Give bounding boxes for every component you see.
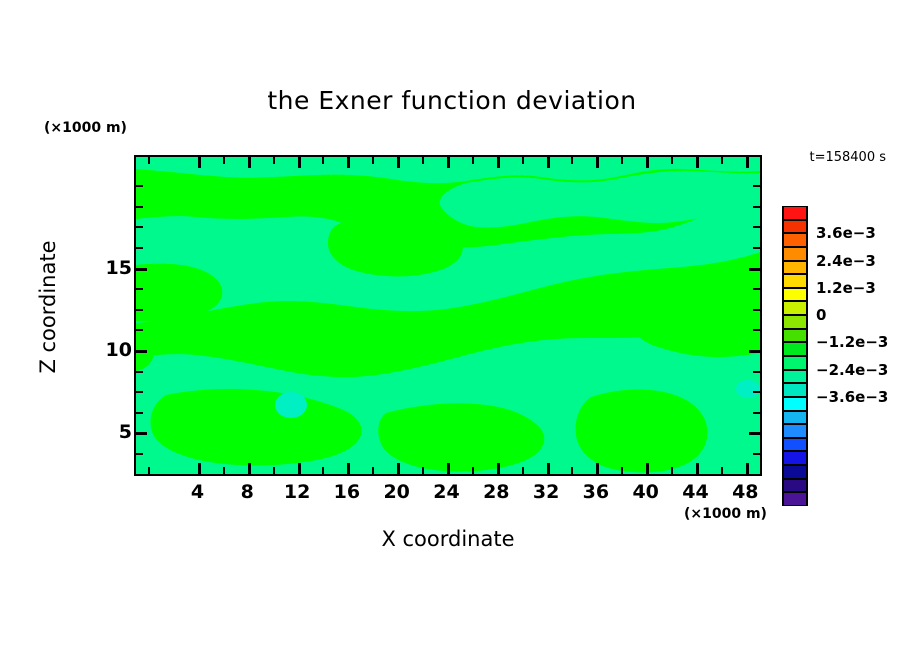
- x-tick-major: [497, 463, 500, 474]
- y-tick-minor: [136, 247, 143, 249]
- y-tick-minor: [136, 206, 143, 208]
- y-tick-right-minor: [753, 247, 760, 249]
- colorbar-segment: [782, 301, 808, 315]
- y-tick-minor: [136, 329, 143, 331]
- x-tick-label: 24: [433, 481, 459, 503]
- x-tick-minor: [273, 467, 275, 474]
- colorbar-segment: [782, 465, 808, 479]
- x-tick-major: [596, 463, 599, 474]
- x-tick-label: 28: [483, 481, 509, 503]
- x-tick-label: 48: [732, 481, 758, 503]
- x-tick-top-minor: [721, 157, 723, 164]
- y-axis-unit-label: (×1000 m): [44, 120, 127, 136]
- y-tick-minor: [136, 185, 143, 187]
- colorbar-segment: [782, 329, 808, 343]
- x-tick-major: [347, 463, 350, 474]
- x-tick-top-minor: [148, 157, 150, 164]
- y-tick-right-minor: [753, 412, 760, 414]
- colorbar-segment: [782, 438, 808, 452]
- x-tick-minor: [721, 467, 723, 474]
- x-tick-top-major: [746, 157, 749, 168]
- x-tick-label: 4: [191, 481, 204, 503]
- x-tick-label: 32: [533, 481, 559, 503]
- colorbar: [782, 206, 808, 506]
- x-tick-minor: [422, 467, 424, 474]
- y-tick-right-minor: [753, 329, 760, 331]
- x-tick-top-minor: [571, 157, 573, 164]
- x-tick-label: 40: [632, 481, 658, 503]
- y-tick-minor: [136, 391, 143, 393]
- colorbar-segment: [782, 411, 808, 425]
- colorbar-segment: [782, 397, 808, 411]
- y-tick-label: 10: [106, 339, 132, 361]
- y-tick-right-minor: [753, 185, 760, 187]
- x-tick-top-major: [447, 157, 450, 168]
- contour-field: [136, 157, 760, 474]
- contour-pocket-teal-left: [275, 392, 307, 418]
- timestamp-annotation: t=158400 s: [809, 150, 886, 165]
- y-tick-minor: [136, 226, 143, 228]
- x-tick-top-major: [397, 157, 400, 168]
- x-tick-top-minor: [273, 157, 275, 164]
- y-axis-title: Z coordinate: [36, 207, 60, 407]
- y-tick-label: 5: [119, 421, 132, 443]
- y-tick-minor: [136, 288, 143, 290]
- x-tick-minor: [522, 467, 524, 474]
- y-tick-right-minor: [753, 453, 760, 455]
- colorbar-segment: [782, 261, 808, 275]
- x-tick-top-minor: [422, 157, 424, 164]
- x-tick-top-major: [646, 157, 649, 168]
- colorbar-segment: [782, 288, 808, 302]
- y-tick-minor: [136, 309, 143, 311]
- x-tick-minor: [472, 467, 474, 474]
- colorbar-tick-label: −2.4e−3: [816, 361, 888, 379]
- x-tick-top-major: [298, 157, 301, 168]
- colorbar-segment: [782, 220, 808, 234]
- y-tick-right-major: [749, 268, 760, 271]
- x-tick-minor: [223, 467, 225, 474]
- y-tick-minor: [136, 371, 143, 373]
- x-tick-major: [397, 463, 400, 474]
- y-tick-major: [136, 432, 147, 435]
- x-tick-major: [198, 463, 201, 474]
- x-tick-top-minor: [472, 157, 474, 164]
- colorbar-tick-label: −3.6e−3: [816, 388, 888, 406]
- x-tick-label: 8: [241, 481, 254, 503]
- x-tick-top-major: [547, 157, 550, 168]
- y-tick-right-major: [749, 432, 760, 435]
- x-tick-major: [696, 463, 699, 474]
- x-tick-major: [298, 463, 301, 474]
- colorbar-segment: [782, 424, 808, 438]
- x-tick-minor: [372, 467, 374, 474]
- contour-pocket-teal-right: [736, 380, 760, 398]
- x-tick-minor: [671, 467, 673, 474]
- x-tick-minor: [148, 467, 150, 474]
- colorbar-segment: [782, 479, 808, 493]
- x-tick-major: [746, 463, 749, 474]
- x-tick-minor: [621, 467, 623, 474]
- x-tick-top-minor: [322, 157, 324, 164]
- x-tick-top-minor: [671, 157, 673, 164]
- x-tick-top-major: [347, 157, 350, 168]
- x-tick-top-minor: [223, 157, 225, 164]
- x-tick-top-minor: [522, 157, 524, 164]
- x-tick-top-major: [248, 157, 251, 168]
- x-tick-major: [547, 463, 550, 474]
- y-tick-right-minor: [753, 371, 760, 373]
- y-tick-right-minor: [753, 288, 760, 290]
- y-tick-minor: [136, 412, 143, 414]
- y-tick-right-major: [749, 350, 760, 353]
- colorbar-segment: [782, 247, 808, 261]
- colorbar-tick-label: 2.4e−3: [816, 252, 876, 270]
- colorbar-segment: [782, 206, 808, 220]
- x-tick-label: 16: [334, 481, 360, 503]
- colorbar-segment: [782, 342, 808, 356]
- x-axis-unit-label: (×1000 m): [684, 506, 767, 522]
- x-tick-minor: [571, 467, 573, 474]
- x-tick-top-major: [696, 157, 699, 168]
- x-tick-minor: [322, 467, 324, 474]
- x-tick-top-major: [198, 157, 201, 168]
- colorbar-tick-label: 0: [816, 306, 826, 324]
- x-tick-major: [447, 463, 450, 474]
- y-tick-major: [136, 268, 147, 271]
- colorbar-tick-label: 3.6e−3: [816, 224, 876, 242]
- y-tick-right-minor: [753, 309, 760, 311]
- colorbar-segment: [782, 370, 808, 384]
- x-tick-label: 36: [583, 481, 609, 503]
- x-tick-top-minor: [621, 157, 623, 164]
- y-tick-minor: [136, 453, 143, 455]
- colorbar-segment: [782, 315, 808, 329]
- y-tick-right-minor: [753, 226, 760, 228]
- x-tick-major: [646, 463, 649, 474]
- y-tick-right-minor: [753, 391, 760, 393]
- x-tick-major: [248, 463, 251, 474]
- x-tick-top-major: [497, 157, 500, 168]
- colorbar-segment: [782, 383, 808, 397]
- colorbar-segment: [782, 274, 808, 288]
- contour-plot-area: [134, 155, 762, 476]
- contour-island-lower-right: [576, 390, 708, 473]
- x-tick-top-minor: [372, 157, 374, 164]
- y-tick-right-minor: [753, 206, 760, 208]
- colorbar-tick-label: 1.2e−3: [816, 279, 876, 297]
- x-tick-top-major: [596, 157, 599, 168]
- colorbar-tick-label: −1.2e−3: [816, 333, 888, 351]
- x-tick-label: 12: [284, 481, 310, 503]
- colorbar-segment: [782, 356, 808, 370]
- colorbar-segment: [782, 451, 808, 465]
- contour-tongue-center: [328, 217, 463, 277]
- x-axis-title: X coordinate: [248, 527, 648, 551]
- colorbar-segment: [782, 233, 808, 247]
- y-tick-label: 15: [106, 257, 132, 279]
- colorbar-segment: [782, 492, 808, 506]
- x-tick-label: 20: [383, 481, 409, 503]
- x-tick-label: 44: [682, 481, 708, 503]
- page-title: the Exner function deviation: [0, 86, 904, 115]
- y-tick-major: [136, 350, 147, 353]
